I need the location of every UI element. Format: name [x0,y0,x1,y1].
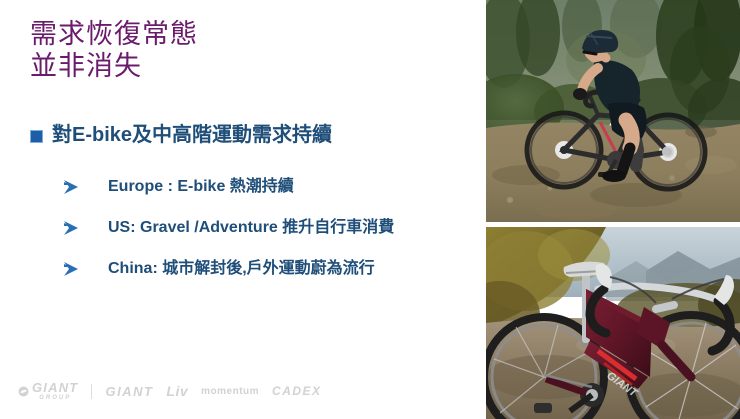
giant-logo: GIANT [105,384,153,399]
momentum-logo: momentum [201,386,259,397]
chevron-arrow-icon [62,219,80,237]
main-bullet-item: 對E-bike及中高階運動需求持續 [30,122,332,148]
main-bullet-label: 對E-bike及中高階運動需求持續 [52,122,332,148]
photo-giant-gravel-bike-closeup: GIANT [486,227,740,419]
photo-cyclist-gravel-riding-art [486,0,740,222]
list-item: China: 城市解封後,戶外運動蔚為流行 [62,248,472,289]
chevron-arrow-icon [62,178,80,196]
photo-giant-gravel-bike-closeup-art: GIANT [486,227,740,419]
sub-bullet-list: Europe : E-bike 熱潮持續 US: Gravel /Adventu… [62,166,472,289]
giant-group-logo: GIANT GROUP [18,381,78,401]
photo-cyclist-gravel-riding [486,0,740,222]
giant-group-wordmark: GIANT [32,381,78,394]
chevron-arrow-icon [62,260,80,278]
giant-group-subword: GROUP [39,395,71,401]
logo-divider [91,384,92,399]
giant-swoosh-icon [18,386,29,397]
square-bullet-icon [30,130,43,143]
list-item: Europe : E-bike 熱潮持續 [62,166,472,207]
sub-bullet-label: US: Gravel /Adventure 推升自行車消費 [108,217,394,239]
liv-logo: Liv [166,383,188,399]
sub-bullet-label: Europe : E-bike 熱潮持續 [108,176,294,198]
sub-bullet-label: China: 城市解封後,戶外運動蔚為流行 [108,258,375,280]
presentation-slide: 需求恢復常態 並非消失 對E-bike及中高階運動需求持續 Europe : E… [0,0,740,419]
list-item: US: Gravel /Adventure 推升自行車消費 [62,207,472,248]
title-line-2: 並非消失 [30,50,460,82]
page-title: 需求恢復常態 並非消失 [30,18,460,82]
footer-brand-logos: GIANT GROUP GIANT Liv momentum CADEX [18,381,322,401]
cadex-logo: CADEX [272,384,322,398]
title-line-1: 需求恢復常態 [30,18,460,50]
